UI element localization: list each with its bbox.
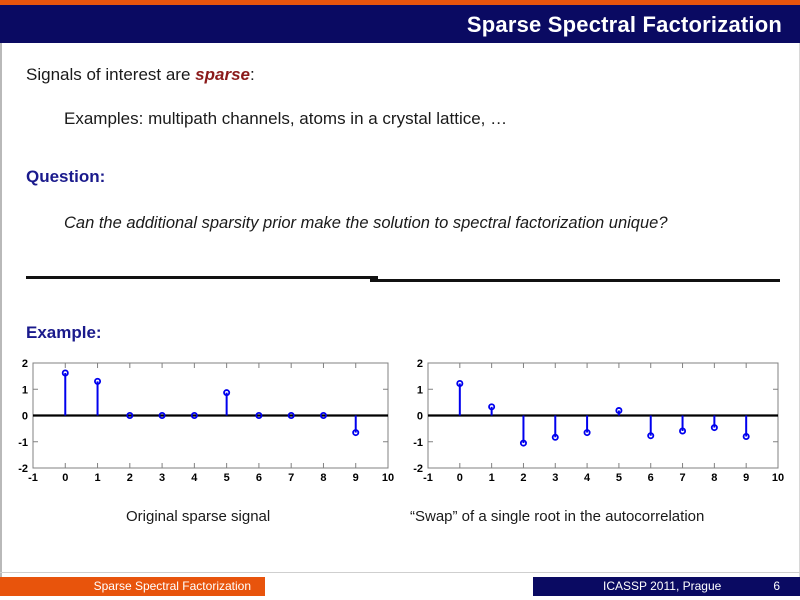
x-tick-label: 8 [320, 472, 326, 484]
footer-right-bar: ICASSP 2011, Prague 6 [533, 577, 800, 596]
x-tick-label: 4 [191, 472, 198, 484]
y-tick-label: 2 [417, 358, 423, 370]
intro-suffix: : [250, 65, 255, 84]
x-tick-label: 10 [382, 472, 394, 484]
caption-right: “Swap” of a single root in the autocorre… [410, 508, 704, 525]
x-tick-label: 7 [679, 472, 685, 484]
stem-plot-svg-right: -1012345678910-2-1012 [428, 363, 778, 468]
section-divider-right [370, 279, 780, 282]
x-tick-label: 5 [616, 472, 622, 484]
question-text: Can the additional sparsity prior make t… [64, 214, 668, 233]
x-tick-label: 2 [520, 472, 526, 484]
x-tick-label: 9 [743, 472, 749, 484]
slide-bottom-edge [0, 596, 800, 600]
x-tick-label: -1 [423, 472, 433, 484]
caption-left: Original sparse signal [126, 508, 270, 525]
x-tick-label: 10 [772, 472, 784, 484]
y-tick-label: 1 [22, 384, 28, 396]
examples-line: Examples: multipath channels, atoms in a… [64, 109, 507, 129]
footer-conference-label: ICASSP 2011, Prague [603, 579, 721, 593]
data-point-marker [489, 404, 494, 409]
x-tick-label: 1 [489, 472, 495, 484]
x-tick-label: 4 [584, 472, 591, 484]
x-tick-label: 6 [648, 472, 654, 484]
intro-prefix: Signals of interest are [26, 65, 195, 84]
x-tick-label: 3 [159, 472, 165, 484]
y-tick-label: 0 [22, 411, 28, 423]
x-tick-label: 6 [256, 472, 262, 484]
footer-page-number: 6 [773, 579, 780, 593]
x-tick-label: 3 [552, 472, 558, 484]
y-tick-label: -1 [413, 437, 423, 449]
chart-original-sparse-signal: -1012345678910-2-1012 [33, 363, 388, 468]
x-tick-label: 7 [288, 472, 294, 484]
data-point-marker [553, 435, 558, 440]
title-bar: Sparse Spectral Factorization [0, 5, 800, 43]
footer-left-label: Sparse Spectral Factorization [94, 579, 251, 593]
intro-emphasis: sparse [195, 65, 250, 84]
chart-swapped-root-signal: -1012345678910-2-1012 [428, 363, 778, 468]
footer-divider [0, 572, 800, 573]
slide: Sparse Spectral Factorization Signals of… [0, 0, 800, 600]
footer-left-bar: Sparse Spectral Factorization [0, 577, 265, 596]
x-tick-label: 0 [62, 472, 68, 484]
x-tick-label: 9 [353, 472, 359, 484]
x-tick-label: -1 [28, 472, 38, 484]
y-tick-label: -2 [18, 463, 28, 475]
x-tick-label: 5 [224, 472, 230, 484]
y-tick-label: 0 [417, 411, 423, 423]
y-tick-label: -2 [413, 463, 423, 475]
x-tick-label: 2 [127, 472, 133, 484]
y-tick-label: 1 [417, 384, 423, 396]
data-point-marker [712, 425, 717, 430]
x-tick-label: 0 [457, 472, 463, 484]
y-tick-label: 2 [22, 358, 28, 370]
slide-left-border [0, 0, 2, 600]
x-tick-label: 8 [711, 472, 717, 484]
example-heading: Example: [26, 323, 102, 343]
intro-line: Signals of interest are sparse: [26, 65, 255, 85]
stem-plot-svg-left: -1012345678910-2-1012 [33, 363, 388, 468]
y-tick-label: -1 [18, 437, 28, 449]
section-divider-left [26, 276, 378, 279]
question-heading: Question: [26, 167, 105, 187]
x-tick-label: 1 [94, 472, 100, 484]
page-title: Sparse Spectral Factorization [467, 12, 782, 38]
